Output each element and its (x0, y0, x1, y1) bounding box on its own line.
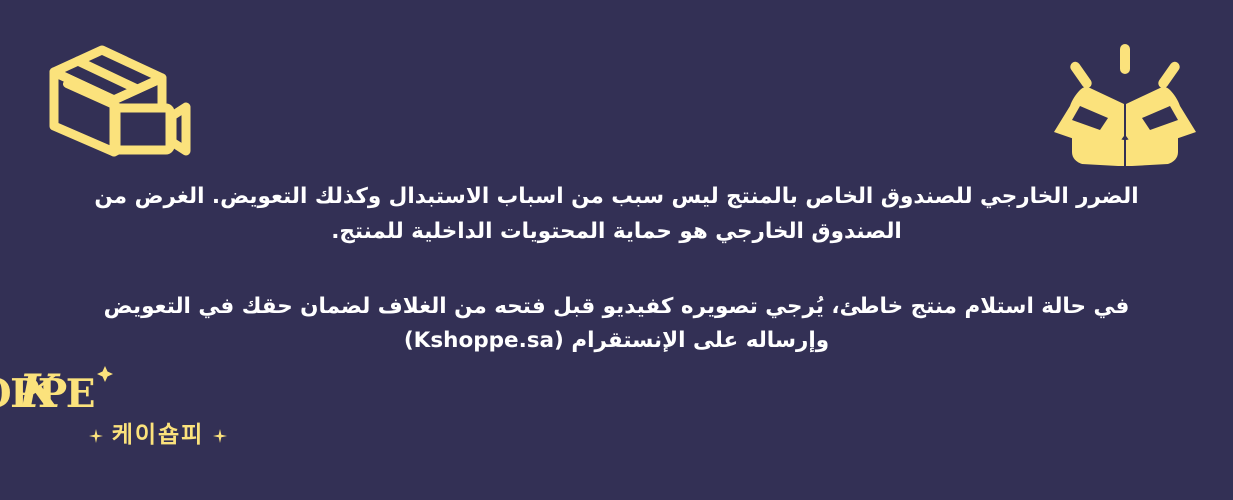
svg-text:SHOPPE: SHOPPE (0, 371, 94, 417)
instagram-handle: (Kshoppe.sa) (404, 328, 564, 353)
policy-copy: الضرر الخارجي للصندوق الخاص بالمنتج ليس … (0, 180, 1233, 359)
kshoppe-logo-subtitle: 케이숍피 (112, 424, 205, 447)
open-box-unboxing-icon (1050, 44, 1200, 166)
kshoppe-wordmark: K SHOPPE (58, 360, 258, 416)
return-policy-banner: الضرر الخارجي للصندوق الخاص بالمنتج ليس … (0, 0, 1233, 500)
policy-paragraph-two-line-two: على الإنستقرام (571, 328, 738, 353)
box-with-video-camera-icon (44, 44, 190, 156)
sparkle-icon-right (89, 429, 103, 443)
policy-paragraph-one: الضرر الخارجي للصندوق الخاص بالمنتج ليس … (72, 180, 1161, 250)
policy-paragraph-two: في حالة استلام منتج خاطئ، يُرجي تصويره ك… (72, 290, 1161, 360)
sparkle-icon-left (213, 429, 227, 443)
kshoppe-logo: K SHOPPE 케이숍피 (48, 360, 258, 460)
kshoppe-logo-subtitle-row: 케이숍피 (58, 424, 258, 447)
